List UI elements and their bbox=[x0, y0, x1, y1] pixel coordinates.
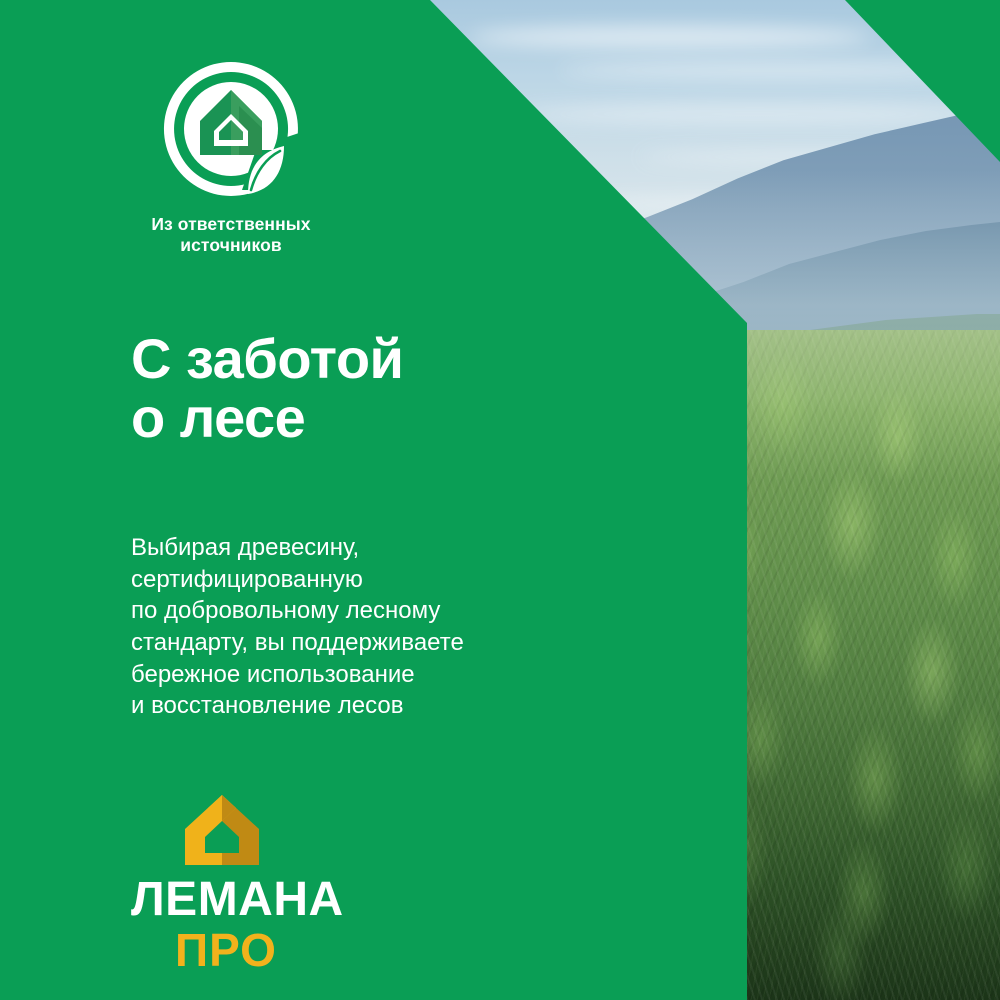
body-line3: по добровольному лесному bbox=[131, 595, 691, 627]
body-line5: бережное использование bbox=[131, 659, 691, 691]
headline-line1: С заботой bbox=[131, 330, 671, 389]
page-title: С заботой о лесе bbox=[131, 330, 671, 448]
brand-logo: ЛЕМАНА ПРО bbox=[131, 793, 431, 973]
house-leaf-circle-emblem-icon bbox=[160, 58, 302, 200]
house-outline-icon bbox=[179, 793, 265, 867]
brand-name: ЛЕМАНА bbox=[131, 876, 431, 924]
headline-line2: о лесе bbox=[131, 389, 671, 448]
poster-canvas: Из ответственных источников С заботой о … bbox=[0, 0, 1000, 1000]
body-paragraph: Выбирая древесину, сертифицированную по … bbox=[131, 532, 691, 722]
body-line2: сертифицированную bbox=[131, 564, 691, 596]
brand-subname: ПРО bbox=[175, 927, 431, 973]
body-line6: и восстановление лесов bbox=[131, 690, 691, 722]
body-line1: Выбирая древесину, bbox=[131, 532, 691, 564]
badge-caption-line2: источников bbox=[131, 235, 331, 256]
certification-badge: Из ответственных источников bbox=[131, 58, 391, 257]
certification-badge-caption: Из ответственных источников bbox=[131, 214, 331, 257]
poster-content: Из ответственных источников С заботой о … bbox=[0, 0, 747, 1000]
body-line4: стандарту, вы поддерживаете bbox=[131, 627, 691, 659]
badge-caption-line1: Из ответственных bbox=[131, 214, 331, 235]
